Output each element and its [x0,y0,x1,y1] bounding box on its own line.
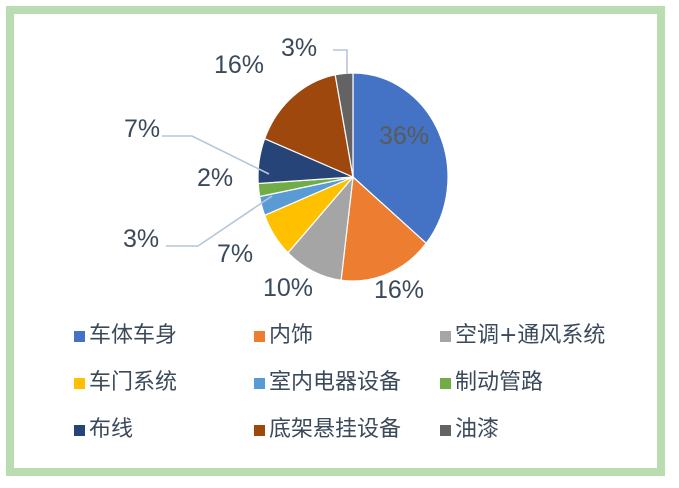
pct-label-door-system: 7% [217,242,253,267]
legend-item-car-body[interactable]: 车体车身 [74,324,254,348]
legend-label: 内饰 [269,324,313,348]
legend-swatch-icon [74,378,85,389]
pct-label-hvac: 10% [263,276,313,301]
legend-item-wiring[interactable]: 布线 [74,418,254,442]
legend-item-chassis-suspension[interactable]: 底架悬挂设备 [254,418,440,442]
chart-frame: 36% 16% 10% 7% 3% 2% 7% 16% 3% 车体车身 内饰 [6,6,665,476]
pct-label-chassis-suspension: 16% [214,53,264,78]
legend-swatch-icon [74,425,85,436]
pct-label-indoor-electrical: 3% [123,227,159,252]
legend-label: 布线 [89,418,133,442]
legend-swatch-icon [440,378,451,389]
legend-item-oil-paint[interactable]: 油漆 [440,418,499,442]
legend-swatch-icon [254,331,265,342]
chart-legend: 车体车身 内饰 空调+通风系统 车门系统 室内电器设备 [74,324,654,465]
legend-label: 室内电器设备 [269,371,401,395]
legend-swatch-icon [440,425,451,436]
pct-label-car-body: 36% [379,124,429,149]
legend-row: 车门系统 室内电器设备 制动管路 [74,371,654,418]
legend-item-hvac[interactable]: 空调+通风系统 [440,324,605,348]
legend-item-interior[interactable]: 内饰 [254,324,440,348]
legend-label: 车体车身 [89,324,177,348]
pct-label-brake-pipeline: 2% [197,166,233,191]
legend-swatch-icon [254,378,265,389]
pct-label-wiring: 7% [124,117,160,142]
legend-label: 车门系统 [89,371,177,395]
legend-row: 布线 底架悬挂设备 油漆 [74,418,654,465]
leader-line-oil-paint [333,50,347,74]
legend-item-door-system[interactable]: 车门系统 [74,371,254,395]
legend-swatch-icon [440,331,451,342]
chart-plot-area: 36% 16% 10% 7% 3% 2% 7% 16% 3% 车体车身 内饰 [14,14,657,468]
legend-label: 油漆 [455,418,499,442]
legend-row: 车体车身 内饰 空调+通风系统 [74,324,654,371]
legend-label: 底架悬挂设备 [269,418,401,442]
legend-label: 空调+通风系统 [455,324,605,348]
pct-label-interior: 16% [374,278,424,303]
legend-label: 制动管路 [455,371,543,395]
legend-swatch-icon [254,425,265,436]
legend-swatch-icon [74,331,85,342]
leader-line-indoor-elec [166,196,272,246]
pie-slice-group [258,73,448,281]
legend-item-indoor-electrical[interactable]: 室内电器设备 [254,371,440,395]
legend-item-brake-pipeline[interactable]: 制动管路 [440,371,543,395]
pct-label-oil-paint: 3% [281,36,317,61]
